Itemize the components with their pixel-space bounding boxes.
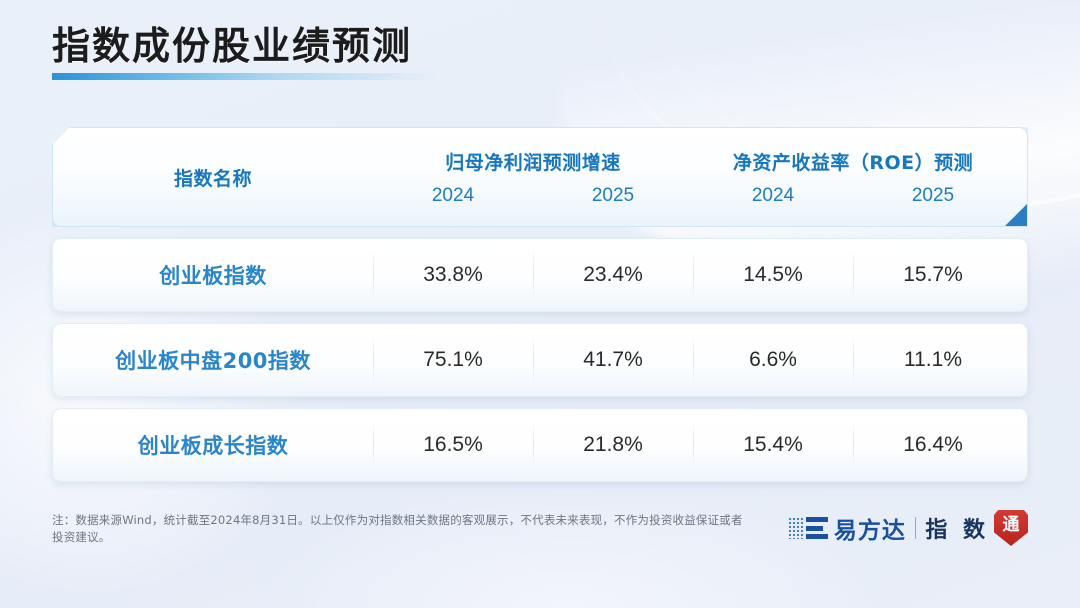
header-year-roe-2025: 2025 xyxy=(853,185,1013,207)
value-profit-2025: 41.7% xyxy=(583,348,643,372)
title-block: 指数成份股业绩预测 xyxy=(52,25,440,80)
footnote-disclaimer: 注：数据来源Wind，统计截至2024年8月31日。以上仅作为对指数相关数据的客… xyxy=(52,512,752,547)
header-year-roe-2024: 2024 xyxy=(693,185,853,207)
index-name-label: 创业板中盘200指数 xyxy=(115,345,311,375)
header-folded-corner-decoration xyxy=(1005,204,1027,226)
cell-profit-2024: 16.5% xyxy=(373,409,533,481)
table-header-row: 指数名称 归母净利润预测增速 2024 2025 净资产收益率（ROE）预测 2… xyxy=(52,127,1028,227)
cell-roe-2024: 15.4% xyxy=(693,409,853,481)
seal-character: 通 xyxy=(1003,517,1020,534)
forecast-table: 指数名称 归母净利润预测增速 2024 2025 净资产收益率（ROE）预测 2… xyxy=(52,127,1028,482)
value-profit-2025: 21.8% xyxy=(583,433,643,457)
cell-roe-2025: 15.7% xyxy=(853,239,1013,311)
efunds-emblem-icon xyxy=(788,517,828,539)
value-roe-2024: 15.4% xyxy=(743,433,803,457)
value-profit-2024: 16.5% xyxy=(423,433,483,457)
header-cell-roe: 净资产收益率（ROE）预测 2024 2025 xyxy=(693,148,1013,207)
header-year-profit-2024: 2024 xyxy=(373,185,533,207)
value-roe-2025: 16.4% xyxy=(903,433,963,457)
cell-profit-2025: 23.4% xyxy=(533,239,693,311)
cell-index-name: 创业板指数 xyxy=(53,239,373,311)
cell-roe-2024: 14.5% xyxy=(693,239,853,311)
cell-roe-2025: 11.1% xyxy=(853,324,1013,396)
cell-profit-2025: 21.8% xyxy=(533,409,693,481)
page-title: 指数成份股业绩预测 xyxy=(52,25,440,69)
index-name-label: 创业板成长指数 xyxy=(138,430,289,460)
table-row: 创业板成长指数 16.5% 21.8% 15.4% 16.4% xyxy=(52,408,1028,482)
cell-index-name: 创业板中盘200指数 xyxy=(53,324,373,396)
e-bars-icon xyxy=(806,517,828,539)
brand-name: 易方达 xyxy=(834,511,906,545)
value-roe-2024: 6.6% xyxy=(749,348,797,372)
header-year-profit-2025: 2025 xyxy=(533,185,693,207)
header-label-roe: 净资产收益率（ROE）预测 xyxy=(733,148,973,175)
logo-divider xyxy=(915,517,917,539)
header-label-index-name: 指数名称 xyxy=(174,164,252,191)
value-roe-2025: 11.1% xyxy=(904,348,962,372)
header-cell-index-name: 指数名称 xyxy=(53,164,373,191)
value-profit-2025: 23.4% xyxy=(583,263,643,287)
cell-profit-2024: 33.8% xyxy=(373,239,533,311)
cell-index-name: 创业板成长指数 xyxy=(53,409,373,481)
cell-roe-2025: 16.4% xyxy=(853,409,1013,481)
table-row: 创业板指数 33.8% 23.4% 14.5% 15.7% xyxy=(52,238,1028,312)
seal-badge-icon: 通 xyxy=(994,510,1028,546)
cell-roe-2024: 6.6% xyxy=(693,324,853,396)
slide-page: 指数成份股业绩预测 指数名称 归母净利润预测增速 2024 2025 净资产收益… xyxy=(0,0,1080,608)
header-years-roe: 2024 2025 xyxy=(693,185,1013,207)
header-label-profit-growth: 归母净利润预测增速 xyxy=(445,148,621,175)
header-years-profit-growth: 2024 2025 xyxy=(373,185,693,207)
value-roe-2024: 14.5% xyxy=(743,263,803,287)
title-underline-accent xyxy=(52,73,440,80)
brand-logo: 易方达 指 数 通 xyxy=(788,508,1028,548)
index-name-label: 创业板指数 xyxy=(159,260,267,290)
table-row: 创业板中盘200指数 75.1% 41.7% 6.6% 11.1% xyxy=(52,323,1028,397)
value-profit-2024: 75.1% xyxy=(423,348,483,372)
header-cell-profit-growth: 归母净利润预测增速 2024 2025 xyxy=(373,148,693,207)
cell-profit-2025: 41.7% xyxy=(533,324,693,396)
halftone-dots-icon xyxy=(788,517,804,539)
brand-subtitle: 指 数 xyxy=(925,512,989,544)
cell-profit-2024: 75.1% xyxy=(373,324,533,396)
value-profit-2024: 33.8% xyxy=(423,263,483,287)
value-roe-2025: 15.7% xyxy=(903,263,963,287)
